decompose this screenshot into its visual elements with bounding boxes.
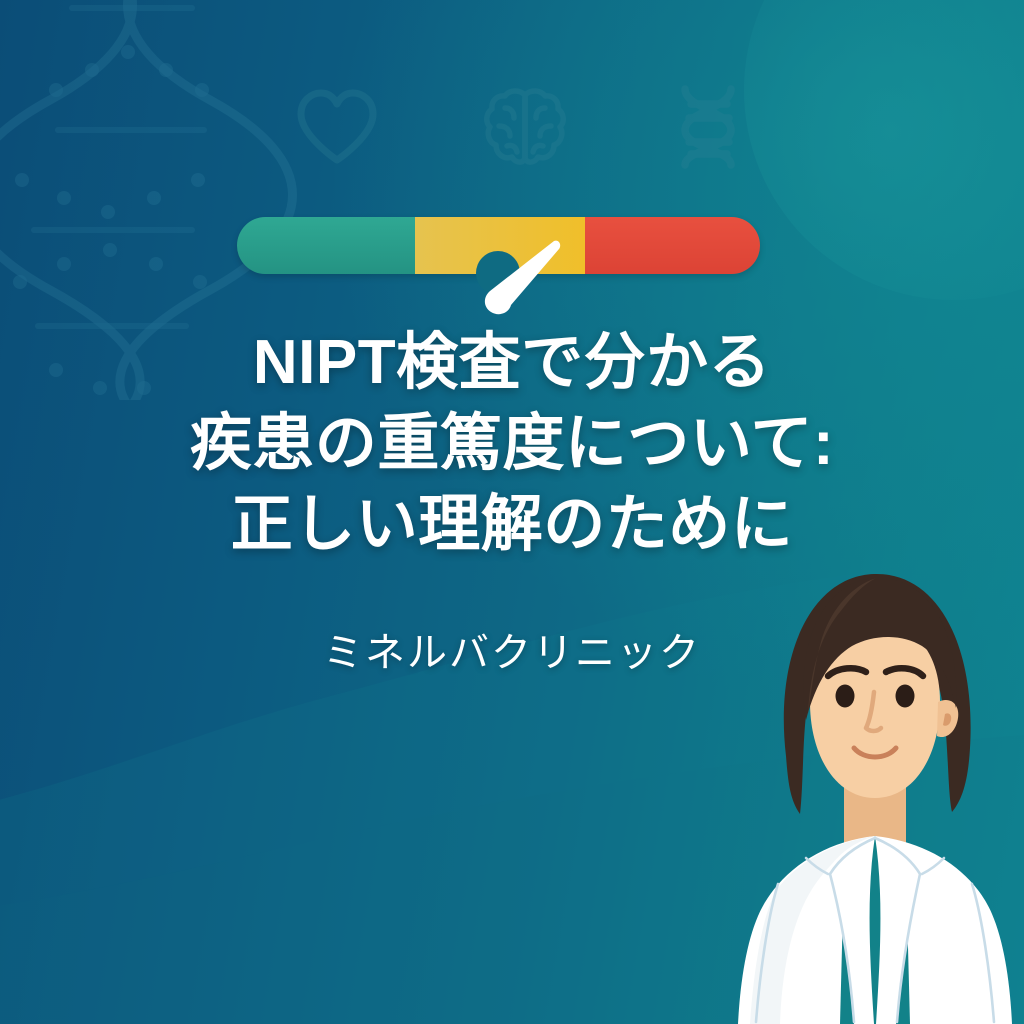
female-doctor-illustration xyxy=(724,524,1024,1024)
severity-gauge xyxy=(237,217,760,274)
social-card: NIPT検査で分かる 疾患の重篤度について: 正しい理解のために ミネルバクリニ… xyxy=(0,0,1024,1024)
gauge-track xyxy=(237,217,760,274)
medical-icon-row xyxy=(0,84,1024,170)
gauge-segment-high xyxy=(585,217,760,274)
heart-icon xyxy=(295,88,379,166)
brain-icon xyxy=(481,86,569,168)
gauge-segment-mid xyxy=(415,217,585,274)
gauge-segment-low xyxy=(237,217,415,274)
dna-icon xyxy=(671,84,745,170)
headline-line-2: 疾患の重篤度について: xyxy=(26,403,998,484)
headline-line-1: NIPT検査で分かる xyxy=(26,322,998,403)
